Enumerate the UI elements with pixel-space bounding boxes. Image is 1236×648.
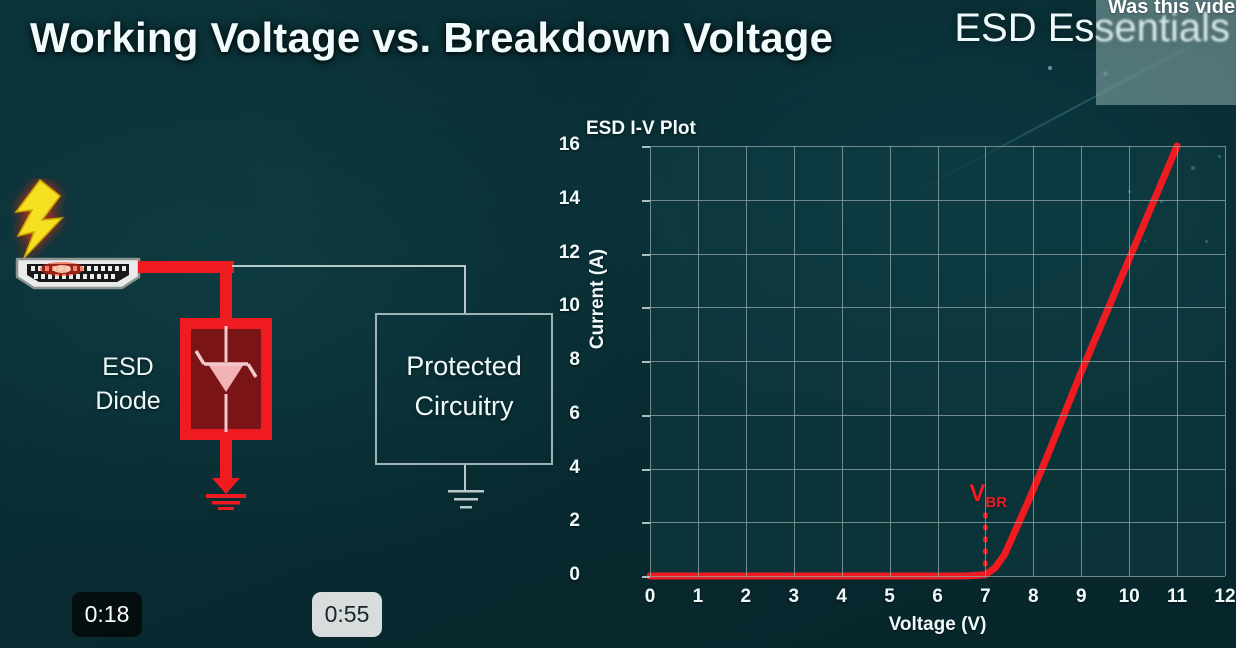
y-tick-label: 6 bbox=[520, 403, 580, 425]
x-tick-label: 5 bbox=[870, 586, 910, 608]
y-tick-mark bbox=[642, 415, 650, 417]
wire-signal-horizontal bbox=[232, 265, 466, 267]
hdmi-connector-icon bbox=[14, 255, 142, 291]
x-tick-label: 12 bbox=[1205, 586, 1236, 608]
gridline-horizontal bbox=[650, 522, 1225, 523]
y-tick-label: 0 bbox=[520, 564, 580, 586]
esd-diode-label: ESD Diode bbox=[78, 350, 178, 418]
gridline-horizontal bbox=[650, 415, 1225, 416]
y-tick-mark bbox=[642, 146, 650, 148]
y-tick-label: 12 bbox=[520, 242, 580, 264]
zener-diode-icon bbox=[186, 324, 266, 434]
gridline-horizontal bbox=[650, 361, 1225, 362]
gridline-horizontal bbox=[650, 307, 1225, 308]
y-tick-label: 2 bbox=[520, 510, 580, 532]
y-tick-label: 14 bbox=[520, 188, 580, 210]
gridline-vertical bbox=[1225, 146, 1226, 576]
timestamp-total[interactable]: 0:55 bbox=[312, 592, 382, 637]
y-tick-mark bbox=[642, 254, 650, 256]
esd-diode-label-line1: ESD bbox=[78, 350, 178, 384]
gridline-horizontal bbox=[650, 254, 1225, 255]
x-tick-label: 0 bbox=[630, 586, 670, 608]
background-sparkle bbox=[1048, 66, 1052, 70]
circuit-diagram: ESD Diode Protected Circuitry bbox=[0, 150, 600, 550]
x-tick-label: 10 bbox=[1109, 586, 1149, 608]
gridline-horizontal bbox=[650, 200, 1225, 201]
x-tick-label: 6 bbox=[918, 586, 958, 608]
x-tick-label: 9 bbox=[1061, 586, 1101, 608]
x-tick-label: 8 bbox=[1013, 586, 1053, 608]
y-tick-label: 8 bbox=[520, 349, 580, 371]
esd-iv-chart: ESD I-V Plot Current (A) Voltage (V) VBR… bbox=[586, 108, 1236, 648]
vbr-label-main: V bbox=[969, 480, 985, 507]
vbr-label-sub: BR bbox=[985, 494, 1007, 511]
ground-icon bbox=[446, 488, 486, 514]
gridline-horizontal bbox=[650, 469, 1225, 470]
y-axis-label: Current (A) bbox=[587, 249, 609, 349]
timestamp-current[interactable]: 0:18 bbox=[72, 592, 142, 637]
ground-icon bbox=[198, 472, 254, 510]
x-tick-label: 11 bbox=[1157, 586, 1197, 608]
x-tick-label: 4 bbox=[822, 586, 862, 608]
survey-question-text: Was this video bbox=[1108, 0, 1236, 19]
x-tick-label: 2 bbox=[726, 586, 766, 608]
y-tick-mark bbox=[642, 361, 650, 363]
y-tick-mark bbox=[642, 469, 650, 471]
y-tick-mark bbox=[642, 576, 650, 578]
y-tick-label: 10 bbox=[520, 295, 580, 317]
x-tick-label: 3 bbox=[774, 586, 814, 608]
breakdown-voltage-label: VBR bbox=[969, 480, 1007, 511]
y-tick-label: 16 bbox=[520, 134, 580, 156]
y-tick-mark bbox=[642, 200, 650, 202]
wire-protected-to-ground bbox=[464, 463, 466, 491]
esd-diode-label-line2: Diode bbox=[78, 384, 178, 418]
x-tick-label: 1 bbox=[678, 586, 718, 608]
slide-canvas: Working Voltage vs. Breakdown Voltage ES… bbox=[0, 0, 1236, 648]
y-tick-mark bbox=[642, 307, 650, 309]
gridline-horizontal bbox=[650, 146, 1225, 147]
y-tick-label: 4 bbox=[520, 457, 580, 479]
y-tick-mark bbox=[642, 522, 650, 524]
gridline-horizontal bbox=[650, 576, 1225, 577]
x-axis-label: Voltage (V) bbox=[650, 614, 1225, 636]
wire-signal-vertical bbox=[464, 265, 466, 315]
plot-area: VBR 01234567891011120246810121416 bbox=[650, 146, 1225, 576]
x-tick-label: 7 bbox=[965, 586, 1005, 608]
chart-title: ESD I-V Plot bbox=[586, 118, 1236, 140]
page-title: Working Voltage vs. Breakdown Voltage bbox=[30, 14, 833, 62]
